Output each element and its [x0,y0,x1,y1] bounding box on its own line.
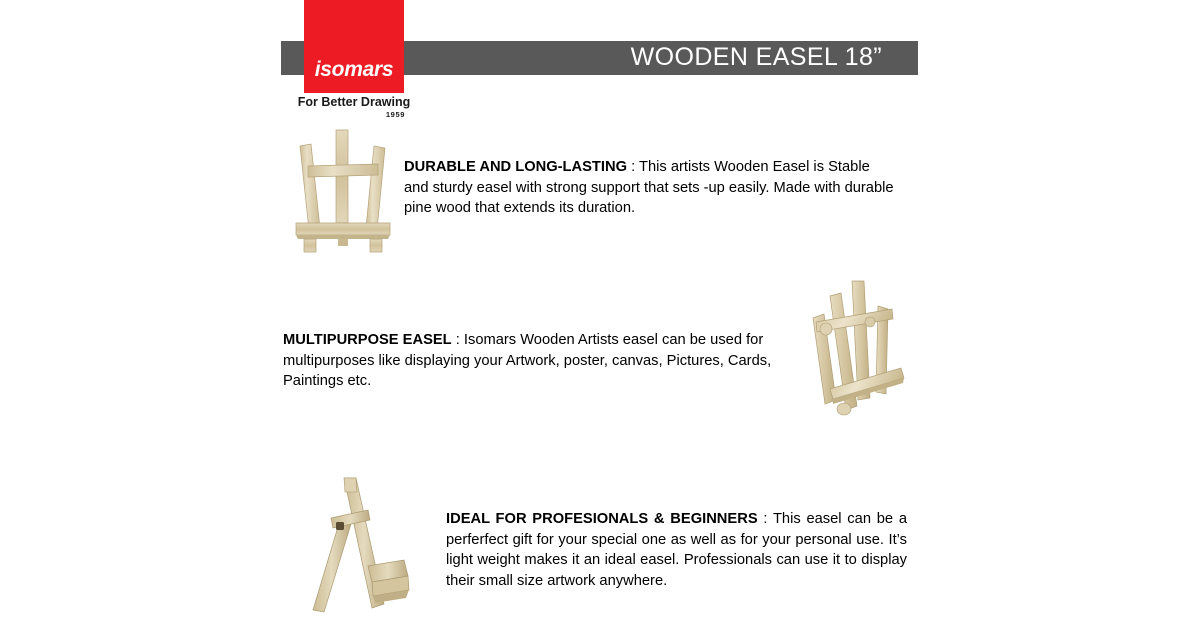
feature-lead-ideal-for: IDEAL FOR PROFESIONALS & BEGINNERS [446,511,758,527]
feature-text-multipurpose: MULTIPURPOSE EASEL : Isomars Wooden Arti… [283,330,828,392]
feature-text-ideal-for: IDEAL FOR PROFESIONALS & BEGINNERS : Thi… [446,509,907,591]
wooden-easel-front-view-image [282,118,404,258]
brand-logo: isomars [304,0,404,93]
feature-text-durable: DURABLE AND LONG-LASTING : This artists … [404,157,896,219]
logo-wordmark: isomars [304,58,404,82]
feature-lead-durable: DURABLE AND LONG-LASTING [404,159,627,175]
wooden-easel-side-view-image [296,470,426,622]
wooden-easel-angled-view-image [800,276,916,420]
logo-founding-year: 1959 [297,110,405,119]
logo-tagline: For Better Drawing [297,95,411,109]
feature-lead-multipurpose: MULTIPURPOSE EASEL [283,332,452,348]
product-infographic: WOODEN EASEL 18” isomars For Better Draw… [0,0,1200,630]
page-title: WOODEN EASEL 18” [631,43,882,72]
